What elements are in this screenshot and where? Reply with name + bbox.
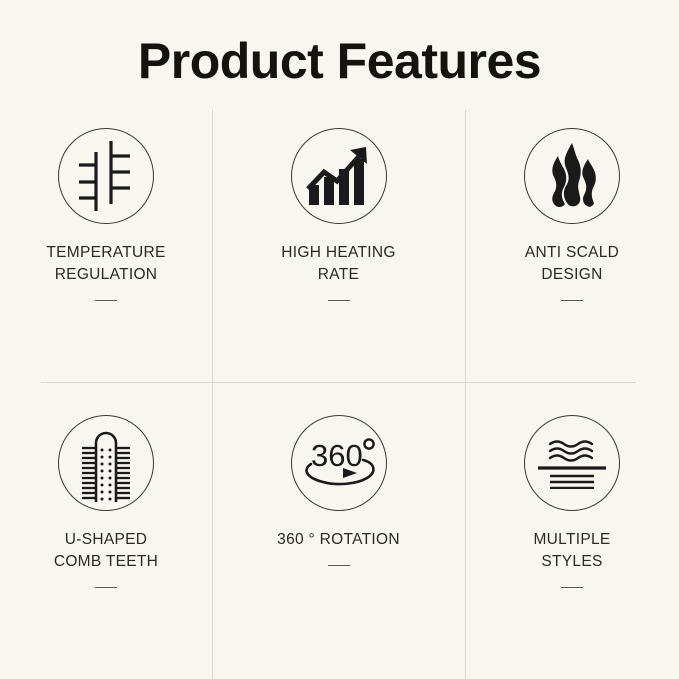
feature-cell-temperature-regulation: TEMPERATURE REGULATION — [0, 110, 212, 382]
flame-icon — [524, 128, 620, 224]
feature-dash — [561, 300, 583, 301]
feature-dash — [328, 565, 350, 566]
feature-label-line2: STYLES — [533, 551, 610, 573]
feature-label-line2: RATE — [281, 264, 395, 286]
feature-label-line1: 360 ° ROTATION — [277, 529, 400, 551]
feature-dash — [95, 300, 117, 301]
feature-dash — [95, 587, 117, 588]
page-title: Product Features — [0, 32, 679, 90]
feature-dash — [561, 587, 583, 588]
feature-label: U-SHAPED COMB TEETH — [54, 529, 158, 573]
feature-label-line1: TEMPERATURE — [46, 242, 165, 264]
feature-label: TEMPERATURE REGULATION — [46, 242, 165, 286]
features-grid: TEMPERATURE REGULATION — [0, 110, 679, 679]
feature-label-line1: ANTI SCALD — [525, 242, 619, 264]
feature-label: 360 ° ROTATION — [277, 529, 400, 551]
comb-teeth-icon — [58, 415, 154, 511]
product-features-page: Product Features — [0, 0, 679, 679]
feature-label-line2: COMB TEETH — [54, 551, 158, 573]
rising-bar-chart-icon — [291, 128, 387, 224]
feature-label-line1: U-SHAPED — [54, 529, 158, 551]
feature-cell-high-heating-rate: HIGH HEATING RATE — [212, 110, 465, 382]
wavy-lines-icon — [524, 415, 620, 511]
feature-cell-360-rotation: 360 360 ° ROTATION — [212, 382, 465, 679]
rotation-number-text: 360 — [311, 438, 363, 473]
feature-label-line1: HIGH HEATING — [281, 242, 395, 264]
feature-cell-multiple-styles: MULTIPLE STYLES — [465, 382, 679, 679]
feature-label-line2: REGULATION — [46, 264, 165, 286]
feature-label-line2: DESIGN — [525, 264, 619, 286]
feature-cell-anti-scald-design: ANTI SCALD DESIGN — [465, 110, 679, 382]
feature-cell-u-shaped-comb-teeth: U-SHAPED COMB TEETH — [0, 382, 212, 679]
feature-label-line1: MULTIPLE — [533, 529, 610, 551]
feature-label: HIGH HEATING RATE — [281, 242, 395, 286]
feature-dash — [328, 300, 350, 301]
feature-label: MULTIPLE STYLES — [533, 529, 610, 573]
rotation-360-icon: 360 — [291, 415, 387, 511]
temperature-scale-icon — [58, 128, 154, 224]
feature-label: ANTI SCALD DESIGN — [525, 242, 619, 286]
